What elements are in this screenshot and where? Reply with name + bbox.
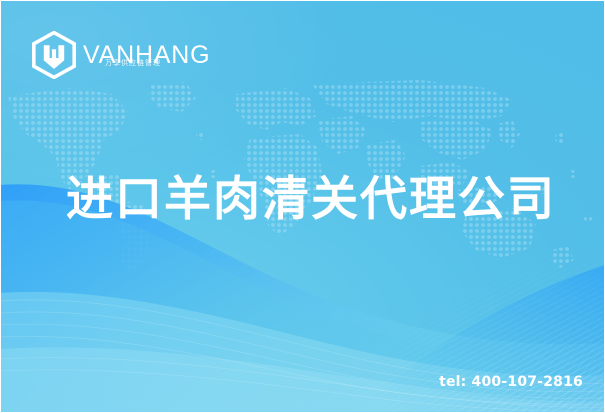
brand-logo[interactable]: VANHANG 万享供应链管理 [31, 31, 210, 79]
logo-text-block: VANHANG 万享供应链管理 [83, 32, 210, 78]
promo-banner: VANHANG 万享供应链管理 进口羊肉清关代理公司 tel: 400-107-… [0, 0, 605, 413]
logo-subtitle: 万享供应链管理 [105, 59, 161, 67]
page-title: 进口羊肉清关代理公司 [66, 172, 556, 228]
contact-phone[interactable]: tel: 400-107-2816 [439, 373, 583, 391]
hexagon-u-icon [31, 31, 77, 79]
